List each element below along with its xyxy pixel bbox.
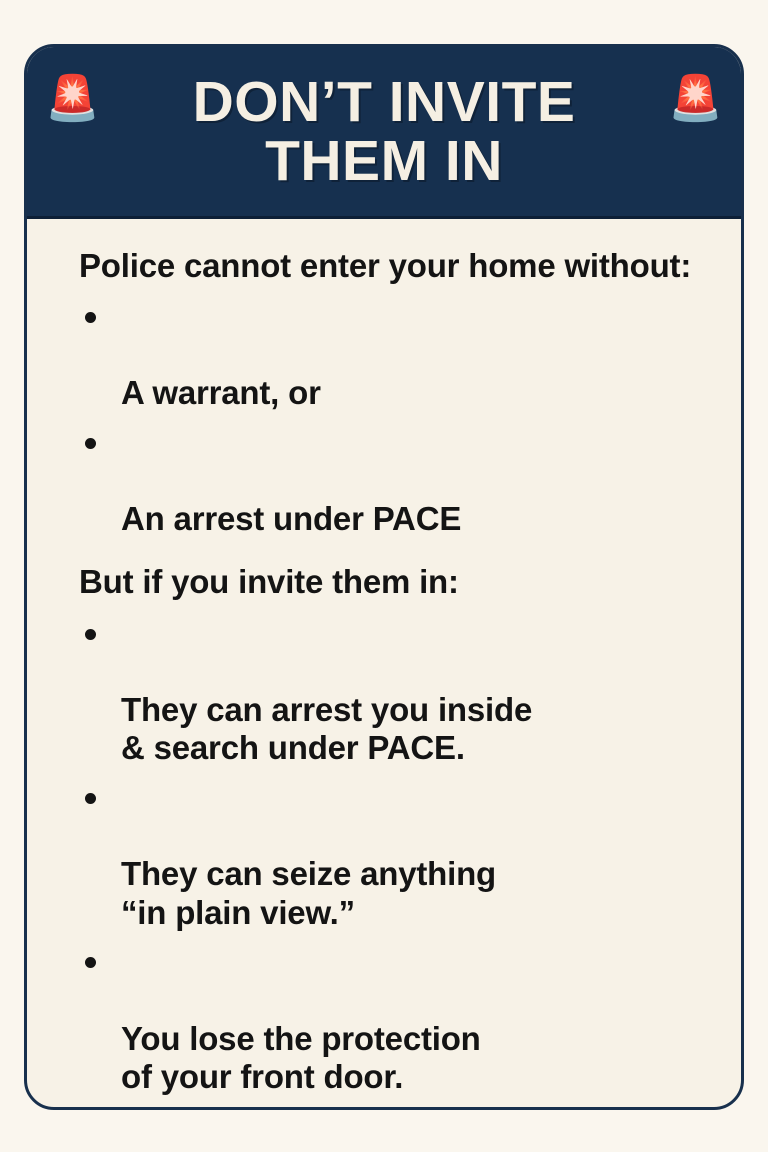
bullet-dot-icon	[85, 629, 96, 640]
bullet-dot-icon	[85, 312, 96, 323]
list-item: They can seize anything “in plain view.”	[79, 778, 707, 932]
second-heading-text: But if you invite them in:	[79, 563, 707, 602]
bullet-dot-icon	[85, 793, 96, 804]
list-item: An arrest under PACE	[79, 423, 707, 539]
poster-header: 🚨 DON’T INVITE THEM IN 🚨	[27, 47, 741, 219]
consequences-bullet-list: They can arrest you inside & search unde…	[79, 613, 707, 1096]
bullet-dot-icon	[85, 438, 96, 449]
list-item-label: An arrest under PACE	[121, 500, 461, 537]
page-title: DON’T INVITE THEM IN	[114, 73, 654, 192]
poster-body: Police cannot enter your home without: A…	[27, 219, 741, 1110]
list-item-label: You lose the protection of your front do…	[121, 1020, 481, 1096]
police-car-light-icon-left: 🚨	[45, 77, 100, 121]
header-inner: 🚨 DON’T INVITE THEM IN 🚨	[45, 73, 723, 192]
intro-bullet-list: A warrant, or An arrest under PACE	[79, 297, 707, 539]
list-item: A warrant, or	[79, 297, 707, 413]
list-item: They can arrest you inside & search unde…	[79, 613, 707, 767]
intro-text: Police cannot enter your home without:	[79, 247, 707, 286]
bullet-dot-icon	[85, 957, 96, 968]
list-item: You lose the protection of your front do…	[79, 942, 707, 1096]
list-item-label: They can seize anything “in plain view.”	[121, 855, 496, 931]
advice-poster-card: 🚨 DON’T INVITE THEM IN 🚨 Police cannot e…	[24, 44, 744, 1110]
list-item-label: They can arrest you inside & search unde…	[121, 691, 532, 767]
list-item-label: A warrant, or	[121, 374, 321, 411]
police-car-light-icon-right: 🚨	[668, 77, 723, 121]
